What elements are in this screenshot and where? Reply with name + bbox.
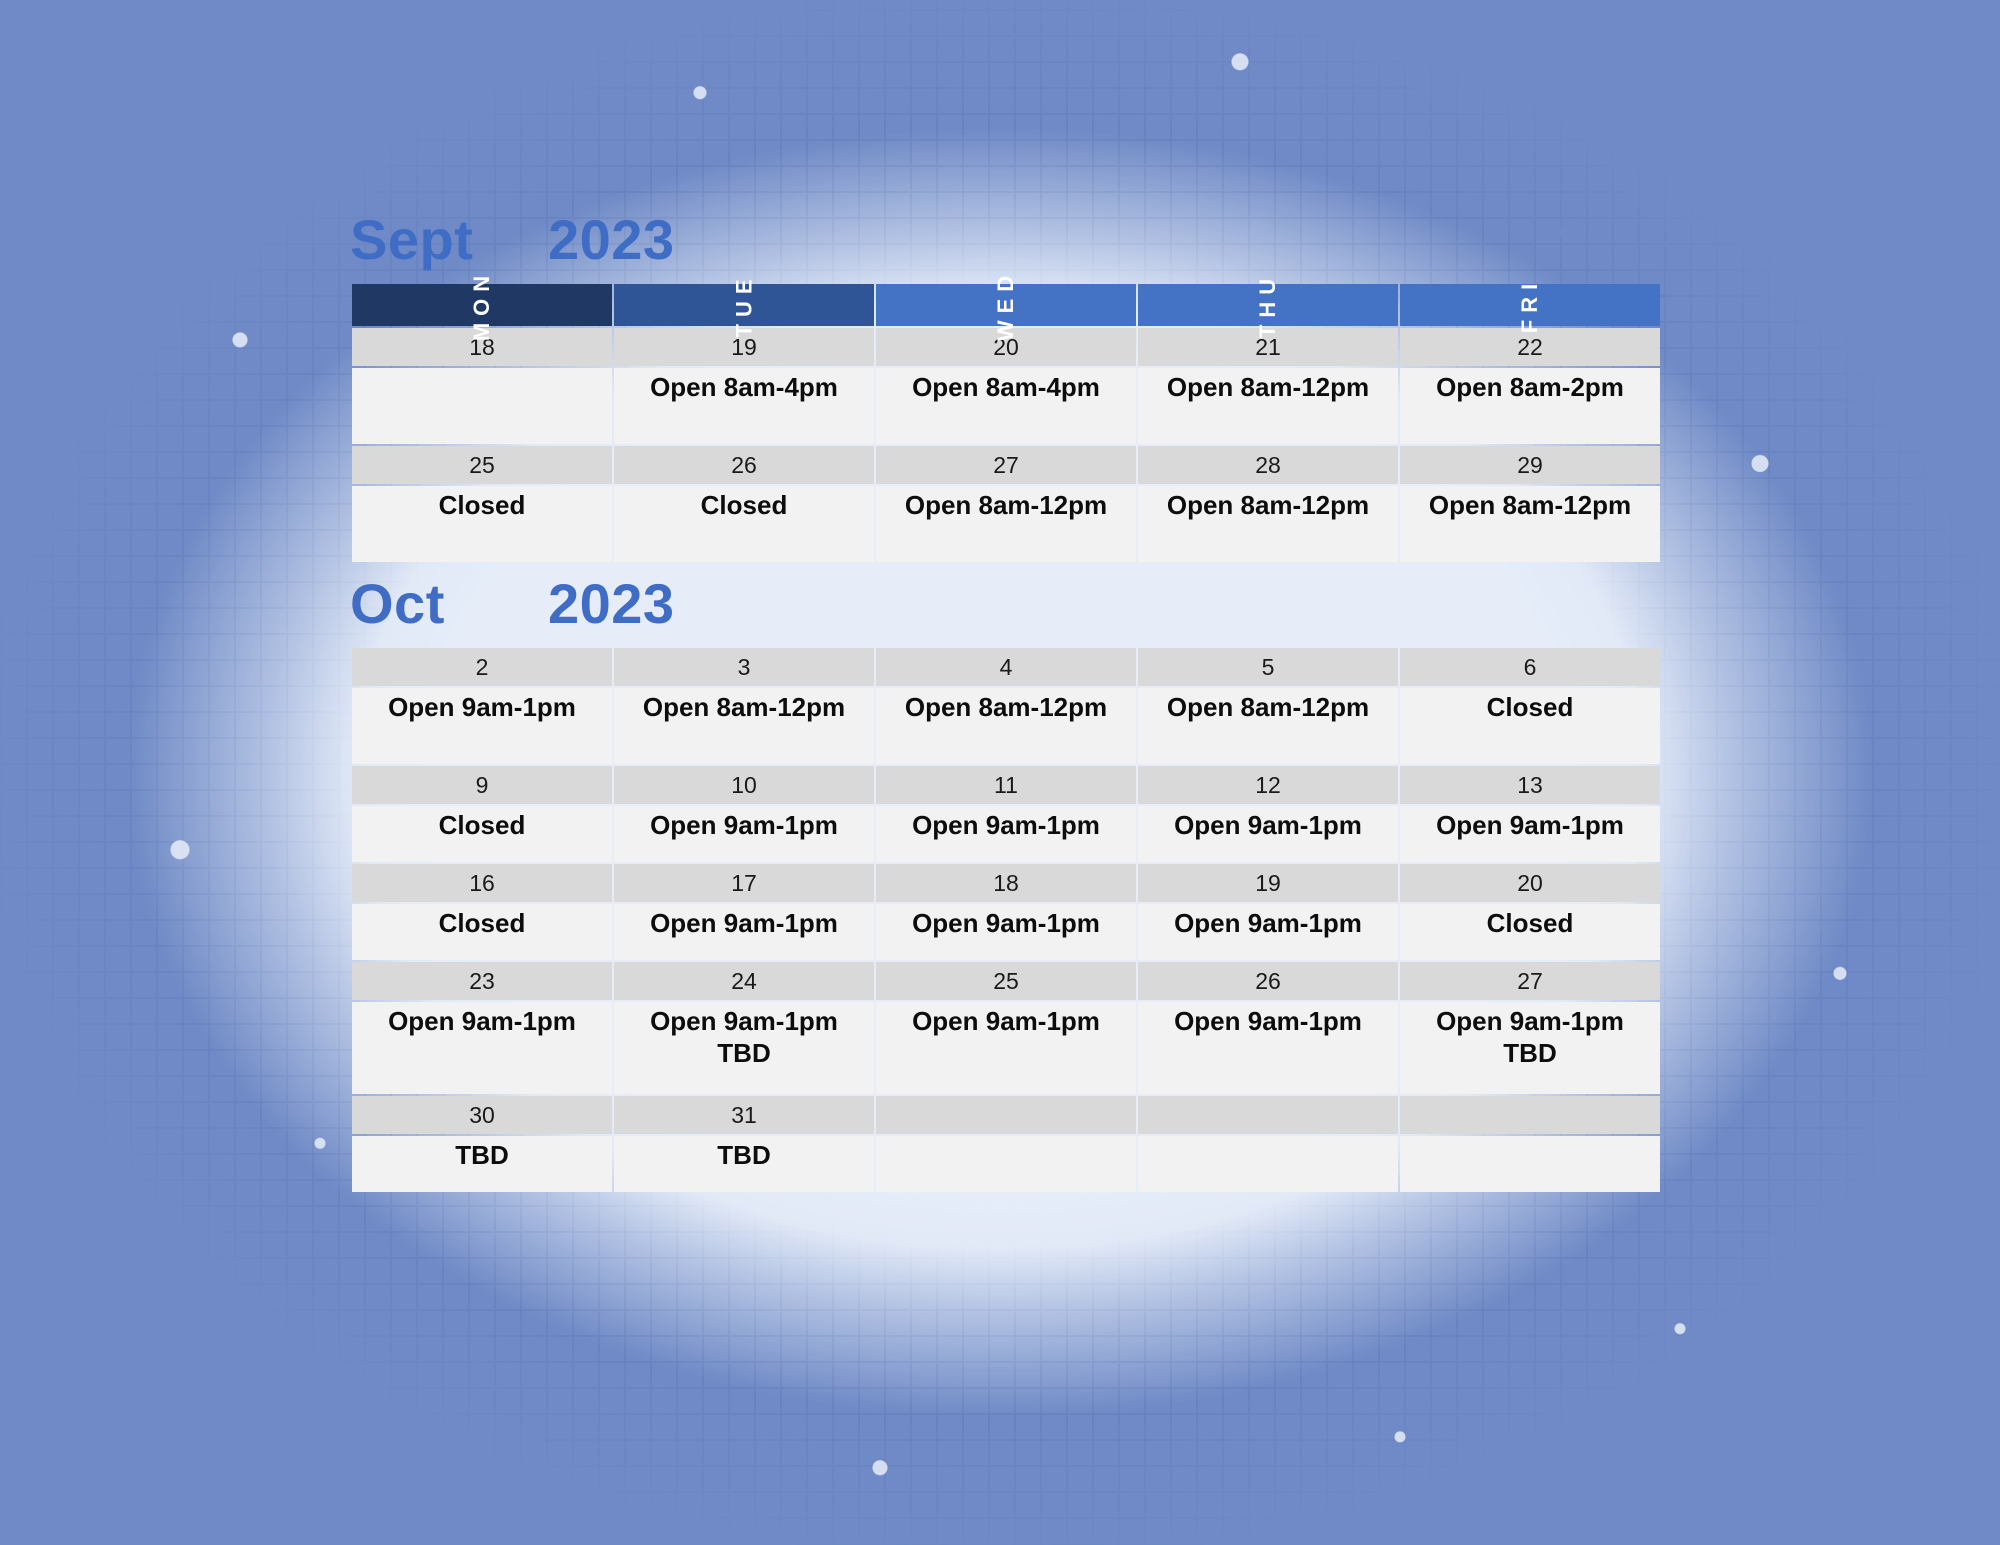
date-cell[interactable]: 12 bbox=[1138, 766, 1398, 804]
event-cell-empty bbox=[1400, 1136, 1660, 1192]
date-cell[interactable]: 31 bbox=[614, 1096, 874, 1134]
month-year-oct: 2023 bbox=[548, 576, 675, 632]
day-header-row: MON TUE WED THU FRI bbox=[352, 284, 1660, 326]
date-cell[interactable]: 6 bbox=[1400, 648, 1660, 686]
event-cell[interactable]: Open 9am-1pm bbox=[1138, 1002, 1398, 1094]
date-row: 30 31 bbox=[352, 1096, 1660, 1134]
date-row: 25 26 27 28 29 bbox=[352, 446, 1660, 484]
date-cell[interactable]: 25 bbox=[876, 962, 1136, 1000]
date-cell[interactable]: 17 bbox=[614, 864, 874, 902]
day-header-fri: FRI bbox=[1400, 284, 1660, 326]
event-row: Closed Closed Open 8am-12pm Open 8am-12p… bbox=[352, 486, 1660, 562]
event-cell[interactable]: Open 9am-1pm bbox=[352, 688, 612, 764]
event-cell[interactable]: Closed bbox=[352, 486, 612, 562]
month-name-sept: Sept bbox=[350, 212, 548, 268]
event-row: TBD TBD bbox=[352, 1136, 1660, 1192]
day-header-wed: WED bbox=[876, 284, 1136, 326]
date-cell-empty bbox=[1138, 1096, 1398, 1134]
date-cell[interactable]: 29 bbox=[1400, 446, 1660, 484]
date-cell[interactable]: 22 bbox=[1400, 328, 1660, 366]
date-cell[interactable]: 4 bbox=[876, 648, 1136, 686]
date-cell[interactable]: 16 bbox=[352, 864, 612, 902]
event-cell[interactable]: Closed bbox=[352, 806, 612, 862]
event-cell[interactable]: Open 8am-12pm bbox=[1138, 486, 1398, 562]
event-cell[interactable]: Open 9am-1pm bbox=[1138, 904, 1398, 960]
month-title-oct: Oct 2023 bbox=[350, 564, 1650, 646]
day-header-thu-label: THU bbox=[1255, 272, 1281, 338]
date-cell[interactable]: 24 bbox=[614, 962, 874, 1000]
event-cell[interactable]: Open 8am-12pm bbox=[1400, 486, 1660, 562]
day-header-tue: TUE bbox=[614, 284, 874, 326]
event-row: Open 9am-1pm Open 9am-1pm TBD Open 9am-1… bbox=[352, 1002, 1660, 1094]
date-cell-empty bbox=[876, 1096, 1136, 1134]
event-cell[interactable]: Open 8am-12pm bbox=[876, 486, 1136, 562]
date-cell[interactable]: 9 bbox=[352, 766, 612, 804]
calendar-table-oct: 2 3 4 5 6 Open 9am-1pm Open 8am-12pm Ope… bbox=[350, 646, 1662, 1194]
event-cell[interactable]: Open 9am-1pm bbox=[1400, 806, 1660, 862]
event-cell[interactable]: Open 9am-1pm bbox=[352, 1002, 612, 1094]
event-cell[interactable]: TBD bbox=[614, 1136, 874, 1192]
event-cell[interactable]: Open 8am-4pm bbox=[614, 368, 874, 444]
date-cell[interactable]: 20 bbox=[1400, 864, 1660, 902]
event-cell[interactable]: TBD bbox=[352, 1136, 612, 1192]
date-row: 23 24 25 26 27 bbox=[352, 962, 1660, 1000]
event-cell[interactable]: Open 8am-4pm bbox=[876, 368, 1136, 444]
event-cell-empty bbox=[1138, 1136, 1398, 1192]
event-cell[interactable]: Open 9am-1pm bbox=[876, 1002, 1136, 1094]
date-cell[interactable]: 10 bbox=[614, 766, 874, 804]
event-cell[interactable]: Open 8am-12pm bbox=[1138, 368, 1398, 444]
date-cell[interactable]: 3 bbox=[614, 648, 874, 686]
event-cell[interactable]: Open 9am-1pm TBD bbox=[1400, 1002, 1660, 1094]
month-year-sept: 2023 bbox=[548, 212, 675, 268]
date-cell[interactable]: 23 bbox=[352, 962, 612, 1000]
event-cell[interactable]: Open 8am-12pm bbox=[1138, 688, 1398, 764]
date-cell[interactable]: 25 bbox=[352, 446, 612, 484]
calendar-table-sept: MON TUE WED THU FRI 18 19 20 21 22 Open … bbox=[350, 282, 1662, 564]
month-name-oct: Oct bbox=[350, 576, 548, 632]
date-cell[interactable]: 13 bbox=[1400, 766, 1660, 804]
day-header-mon: MON bbox=[352, 284, 612, 326]
event-cell[interactable]: Open 9am-1pm bbox=[876, 904, 1136, 960]
day-header-wed-label: WED bbox=[993, 269, 1019, 341]
date-cell[interactable]: 27 bbox=[876, 446, 1136, 484]
date-cell[interactable]: 30 bbox=[352, 1096, 612, 1134]
day-header-mon-label: MON bbox=[469, 269, 495, 341]
event-cell[interactable]: Open 9am-1pm bbox=[876, 806, 1136, 862]
date-cell[interactable]: 11 bbox=[876, 766, 1136, 804]
date-cell[interactable]: 26 bbox=[1138, 962, 1398, 1000]
date-cell[interactable]: 27 bbox=[1400, 962, 1660, 1000]
event-cell[interactable]: Open 8am-12pm bbox=[876, 688, 1136, 764]
calendar-content: Sept 2023 MON TUE WED THU FRI 18 19 20 2… bbox=[350, 200, 1650, 1194]
date-cell[interactable]: 18 bbox=[876, 864, 1136, 902]
date-row: 9 10 11 12 13 bbox=[352, 766, 1660, 804]
date-cell[interactable]: 28 bbox=[1138, 446, 1398, 484]
event-cell[interactable]: Open 8am-12pm bbox=[614, 688, 874, 764]
date-cell[interactable]: 2 bbox=[352, 648, 612, 686]
date-row: 2 3 4 5 6 bbox=[352, 648, 1660, 686]
day-header-thu: THU bbox=[1138, 284, 1398, 326]
event-row: Closed Open 9am-1pm Open 9am-1pm Open 9a… bbox=[352, 806, 1660, 862]
date-row: 16 17 18 19 20 bbox=[352, 864, 1660, 902]
date-cell[interactable]: 5 bbox=[1138, 648, 1398, 686]
date-cell-empty bbox=[1400, 1096, 1660, 1134]
event-cell[interactable]: Closed bbox=[352, 904, 612, 960]
date-cell[interactable]: 26 bbox=[614, 446, 874, 484]
event-row: Open 9am-1pm Open 8am-12pm Open 8am-12pm… bbox=[352, 688, 1660, 764]
event-cell[interactable]: Closed bbox=[1400, 904, 1660, 960]
day-header-tue-label: TUE bbox=[731, 273, 757, 338]
event-cell[interactable]: Closed bbox=[614, 486, 874, 562]
event-cell[interactable] bbox=[352, 368, 612, 444]
event-cell[interactable]: Open 8am-2pm bbox=[1400, 368, 1660, 444]
event-cell[interactable]: Open 9am-1pm bbox=[614, 904, 874, 960]
event-row: Closed Open 9am-1pm Open 9am-1pm Open 9a… bbox=[352, 904, 1660, 960]
event-cell[interactable]: Closed bbox=[1400, 688, 1660, 764]
event-cell-empty bbox=[876, 1136, 1136, 1192]
day-header-fri-label: FRI bbox=[1517, 277, 1543, 333]
date-cell[interactable]: 19 bbox=[1138, 864, 1398, 902]
event-cell[interactable]: Open 9am-1pm bbox=[1138, 806, 1398, 862]
event-cell[interactable]: Open 9am-1pm TBD bbox=[614, 1002, 874, 1094]
event-row: Open 8am-4pm Open 8am-4pm Open 8am-12pm … bbox=[352, 368, 1660, 444]
event-cell[interactable]: Open 9am-1pm bbox=[614, 806, 874, 862]
